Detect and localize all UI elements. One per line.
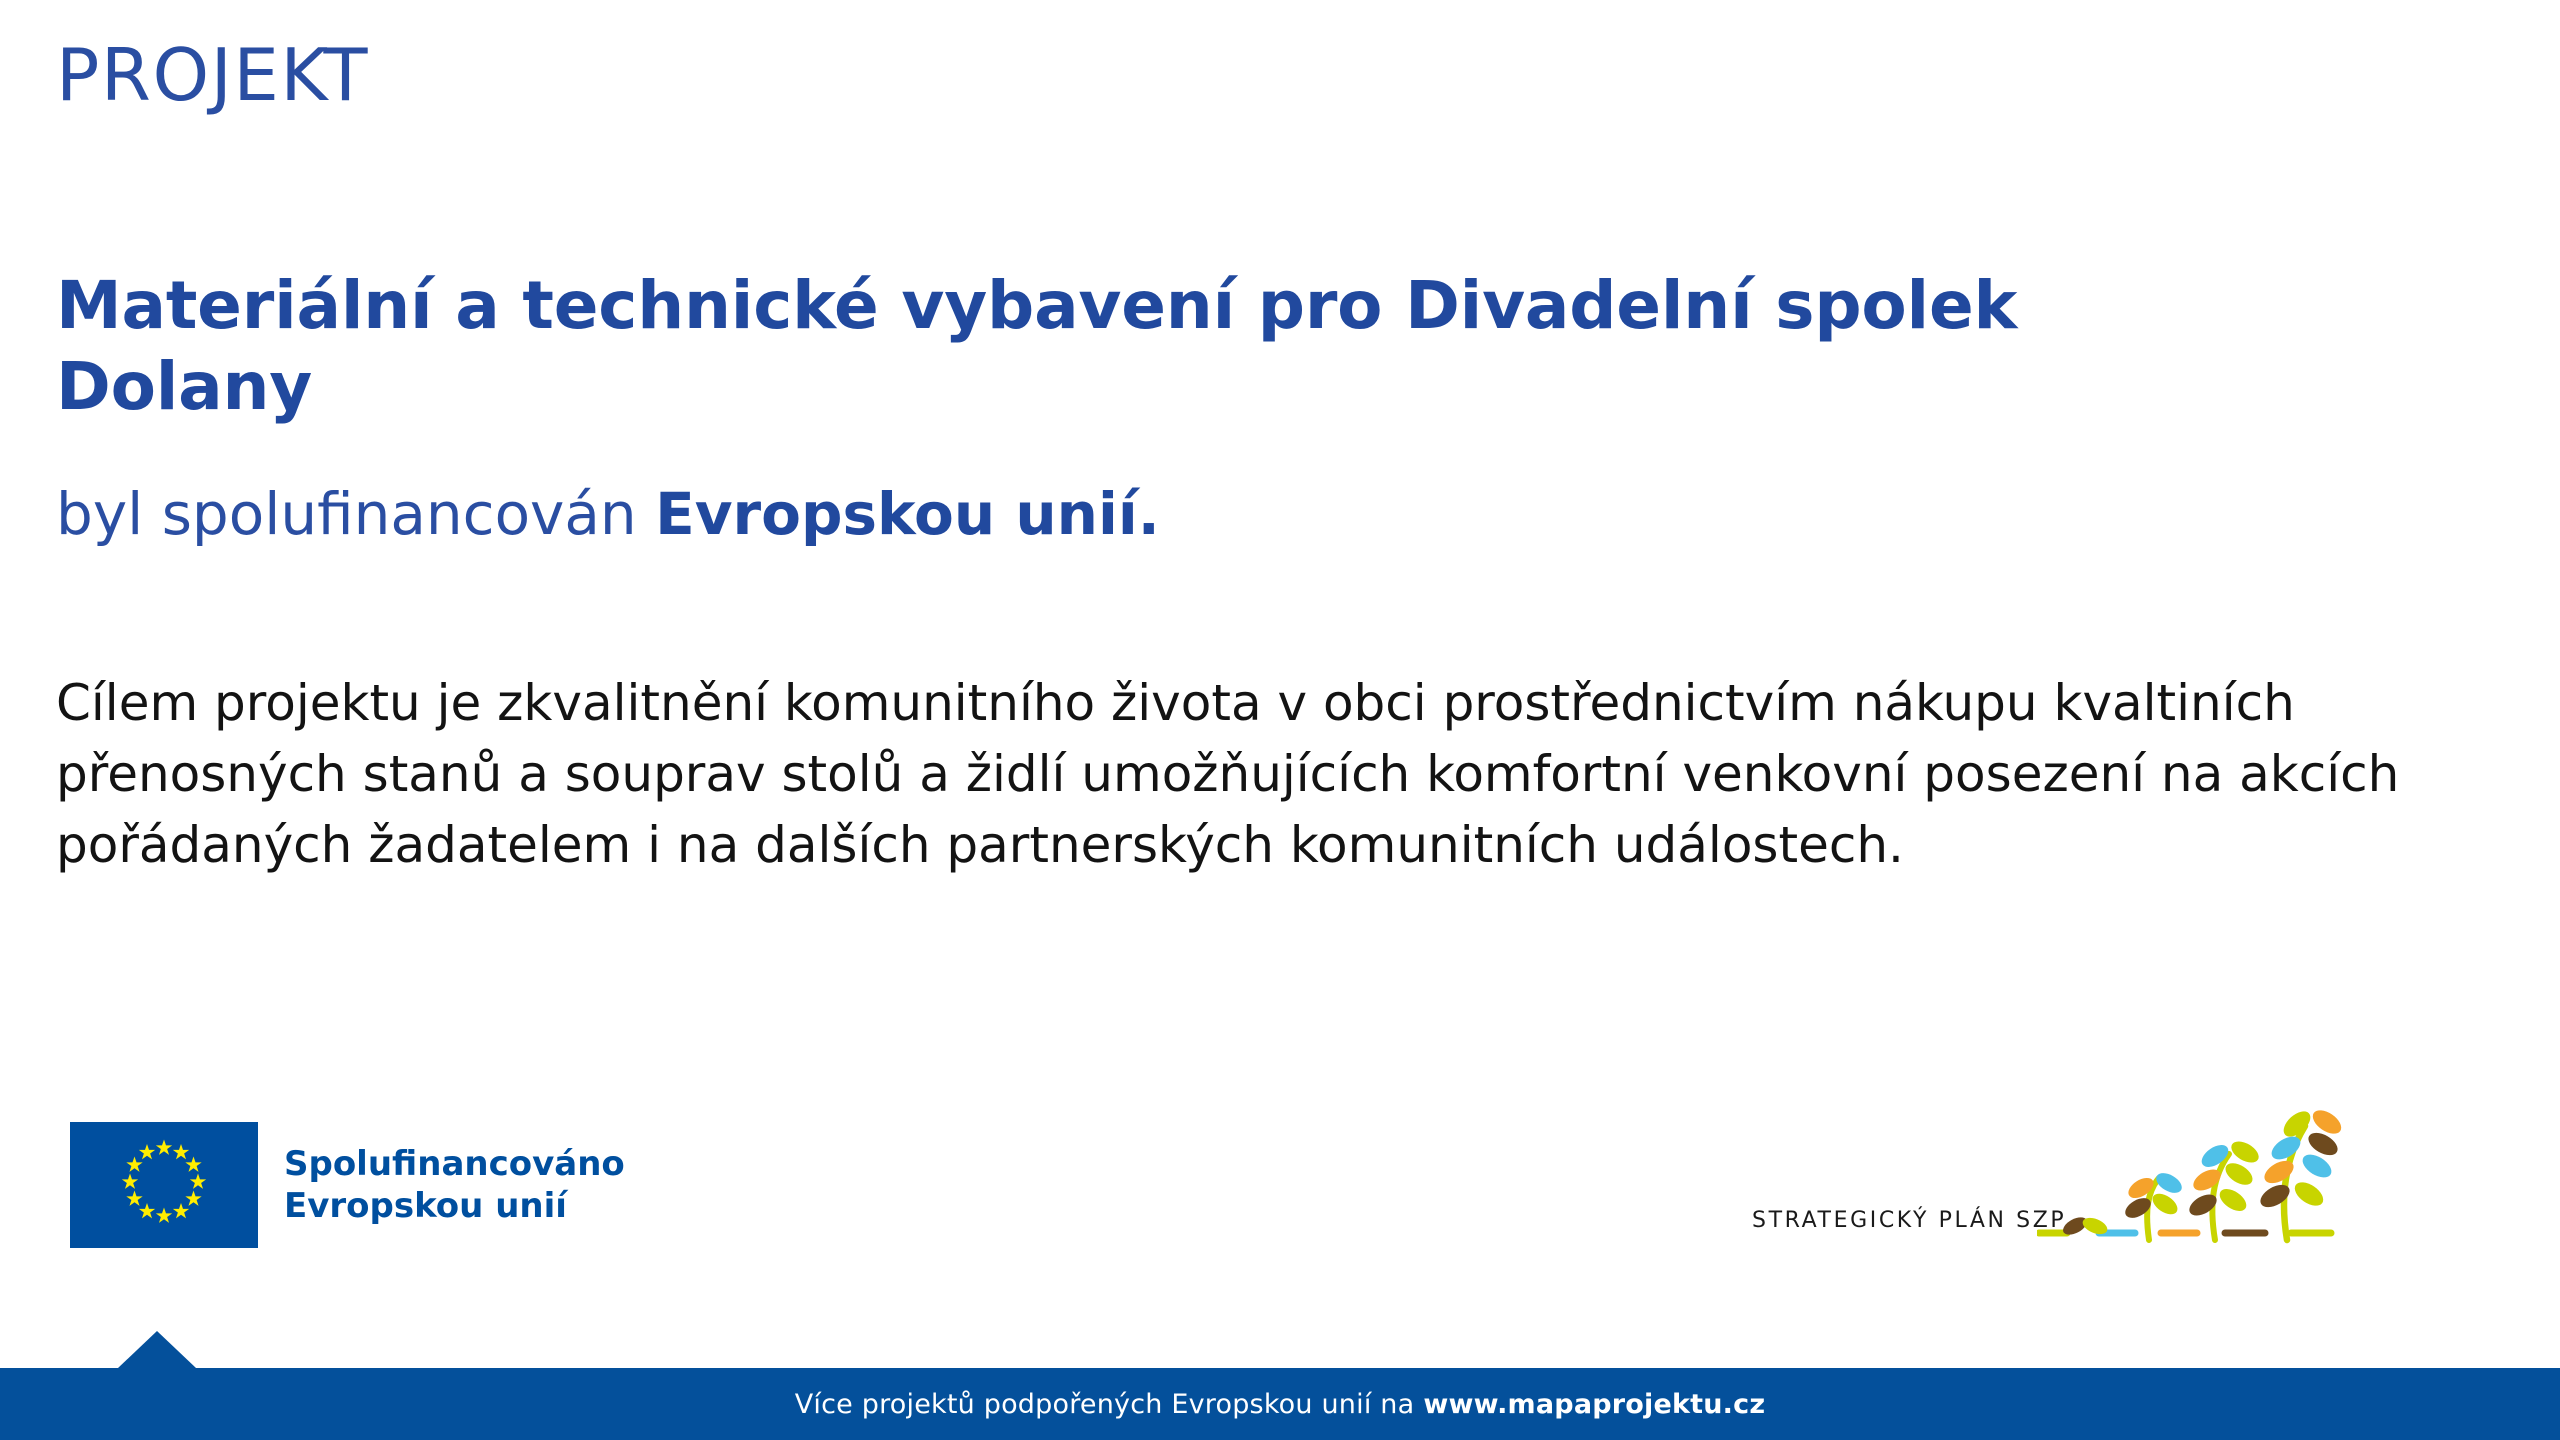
szp-plant-growth-icon [2037, 1100, 2397, 1270]
footer-label: Více projektů podpořených Evropskou unií… [795, 1389, 1415, 1420]
footer-bar: Více projektů podpořených Evropskou unií… [0, 1368, 2560, 1440]
funding-statement: byl spolufinancován Evropskou unií. [56, 480, 1160, 550]
footer-text: Více projektů podpořených Evropskou unií… [0, 1368, 2560, 1440]
eu-logo-text: Spolufinancováno Evropskou unií [284, 1143, 625, 1227]
eu-logo-line-1: Spolufinancováno [284, 1143, 625, 1185]
page-kicker: PROJEKT [56, 38, 369, 114]
eu-flag-icon [70, 1122, 258, 1248]
footer-notch-triangle [118, 1331, 196, 1368]
funding-emphasis: Evropskou unií. [655, 480, 1160, 548]
eu-logo-line-2: Evropskou unií [284, 1185, 625, 1227]
szp-strategic-plan-logo: STRATEGICKÝ PLÁN SZP [1752, 1100, 2392, 1275]
footer-url-link[interactable]: www.mapaprojektu.cz [1423, 1389, 1765, 1420]
project-description: Cílem projektu je zkvalitnění komunitníh… [56, 668, 2456, 881]
page-title: Materiální a technické vybavení pro Diva… [56, 266, 2286, 427]
eu-cofunding-logo: Spolufinancováno Evropskou unií [70, 1122, 625, 1248]
szp-logo-caption: STRATEGICKÝ PLÁN SZP [1752, 1208, 2066, 1233]
funding-prefix: byl spolufinancován [56, 480, 655, 548]
